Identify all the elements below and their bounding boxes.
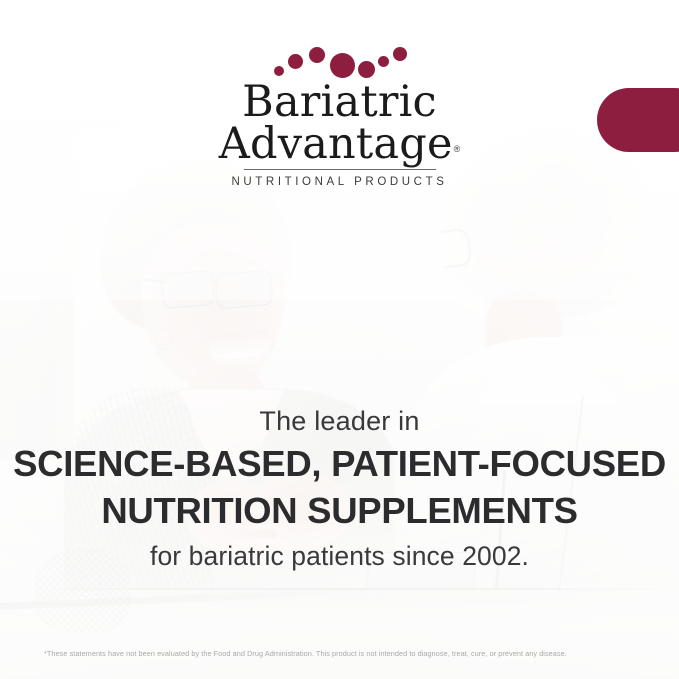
- headline-line-1: SCIENCE-BASED, PATIENT-FOCUSED: [0, 442, 679, 485]
- fda-disclaimer: *These statements have not been evaluate…: [44, 650, 644, 659]
- logo-dot-icon: [378, 56, 389, 67]
- logo-dots-arc: [250, 44, 430, 84]
- logo-dot-icon: [274, 66, 284, 76]
- brand-logo: Bariatric Advantage® NUTRITIONAL PRODUCT…: [0, 44, 679, 188]
- advertisement-banner: Bariatric Advantage® NUTRITIONAL PRODUCT…: [0, 0, 679, 679]
- headline-line-2: NUTRITION SUPPLEMENTS: [0, 489, 679, 532]
- logo-word-advantage: Advantage: [219, 119, 453, 169]
- logo-dot-icon: [393, 47, 407, 61]
- logo-word-bariatric: Bariatric: [0, 81, 679, 123]
- logo-dot-icon: [309, 47, 325, 63]
- headline-block: The leader in SCIENCE-BASED, PATIENT-FOC…: [0, 406, 679, 572]
- registered-trademark-icon: ®: [454, 144, 461, 154]
- headline-tagline: for bariatric patients since 2002.: [0, 541, 679, 572]
- logo-dot-icon: [288, 54, 303, 69]
- logo-dot-icon: [330, 53, 355, 78]
- logo-divider: [244, 169, 436, 170]
- logo-tagline: NUTRITIONAL PRODUCTS: [0, 176, 679, 188]
- logo-dot-icon: [358, 61, 375, 78]
- logo-word-advantage-wrap: Advantage®: [219, 123, 461, 165]
- headline-kicker: The leader in: [0, 406, 679, 438]
